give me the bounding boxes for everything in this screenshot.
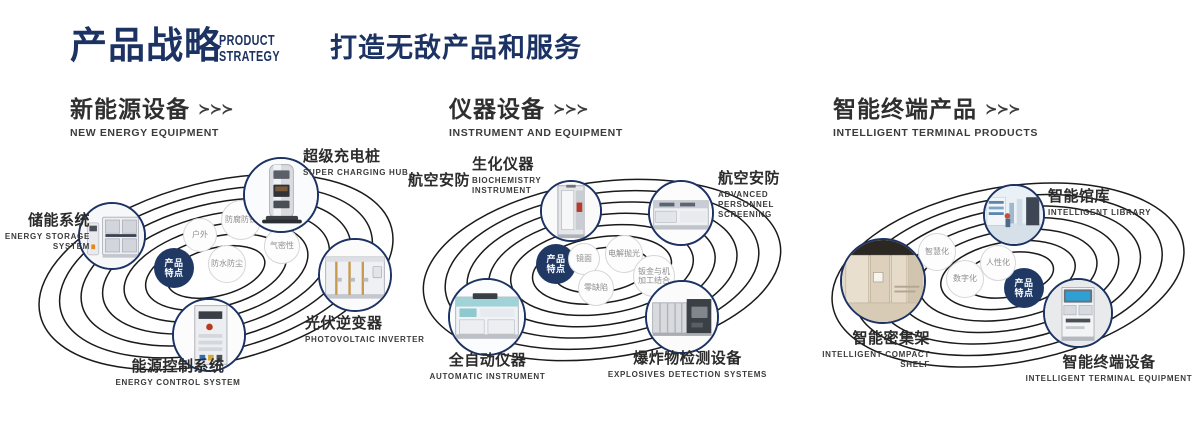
- automatic-instrument-photo: [450, 280, 524, 354]
- section-subtitle-new-energy: NEW ENERGY EQUIPMENT: [70, 127, 233, 139]
- feature-bubble-waterproof: 防水防尘: [208, 245, 246, 283]
- terminal-equipment-photo: [1045, 280, 1111, 346]
- cluster-terminal: 产品特点 智慧化 数字化 人性化: [800, 150, 1200, 400]
- intelligent-library-photo: [985, 186, 1043, 244]
- section-title-terminal: 智能终端产品≻≻≻: [833, 96, 1038, 123]
- section-heading-new-energy: 新能源设备≻≻≻ NEW ENERGY EQUIPMENT: [70, 96, 233, 139]
- section-subtitle-terminal: INTELLIGENT TERMINAL PRODUCTS: [833, 127, 1038, 139]
- product-circle-automatic-instrument[interactable]: [448, 278, 526, 356]
- feature-bubble-airtight: 气密性: [264, 228, 300, 264]
- feature-bubble-digital: 数字化: [946, 260, 984, 298]
- label-energy-control-zh: 能源控制系统: [78, 358, 278, 376]
- label-explosives-detection-zh: 爆炸物检测设备: [600, 350, 775, 368]
- product-circle-explosives-detection[interactable]: [645, 280, 719, 354]
- label-personnel-screening-en: ADVANCED PERSONNEL SCREENING: [718, 190, 810, 220]
- cluster-new-energy: 产品特点 户外 防腐防锈 防水防尘 气密性: [20, 150, 420, 400]
- core-bubble-new-energy: 产品特点: [154, 248, 194, 288]
- label-biochemistry-instrument-zh: 生化仪器: [472, 156, 554, 174]
- feature-bubble-zerodefect: 零缺陷: [578, 270, 614, 306]
- label-explosives-detection: 爆炸物检测设备 EXPLOSIVES DETECTION SYSTEMS: [600, 350, 775, 380]
- compact-shelf-photo: [842, 240, 924, 322]
- product-circle-terminal-equipment[interactable]: [1043, 278, 1113, 348]
- label-biochemistry-instrument: 生化仪器 BIOCHEMISTRY INSTRUMENT: [472, 156, 554, 196]
- product-circle-personnel-screening[interactable]: [648, 180, 714, 246]
- label-automatic-instrument: 全自动仪器 AUTOMATIC INSTRUMENT: [410, 352, 565, 382]
- label-energy-storage-zh: 储能系统: [0, 212, 90, 230]
- label-aviation-security: 航空安防: [408, 172, 470, 190]
- label-charging-hub-en: SUPER CHARGING HUB: [303, 168, 409, 178]
- chevrons-icon: ≻≻≻: [985, 97, 1020, 123]
- label-compact-shelf-zh: 智能密集架: [790, 330, 930, 348]
- label-compact-shelf-en: INTELLIGENT COMPACT SHELF: [790, 350, 930, 370]
- chevrons-icon: ≻≻≻: [198, 97, 233, 123]
- page-title: 产品战略: [70, 26, 222, 66]
- label-energy-control-en: ENERGY CONTROL SYSTEM: [78, 378, 278, 388]
- label-personnel-screening: 航空安防 ADVANCED PERSONNEL SCREENING: [718, 170, 810, 220]
- page-subtitle: 打造无敌产品和服务: [330, 33, 582, 63]
- label-automatic-instrument-zh: 全自动仪器: [410, 352, 565, 370]
- product-circle-pv-inverter[interactable]: [318, 238, 392, 312]
- label-intelligent-library: 智能馆库 INTELLIGENT LIBRARY: [1048, 188, 1151, 218]
- label-energy-storage: 储能系统 ENERGY STORAGE SYSTEM: [0, 212, 90, 252]
- label-biochemistry-instrument-en: BIOCHEMISTRY INSTRUMENT: [472, 176, 554, 196]
- label-intelligent-library-zh: 智能馆库: [1048, 188, 1151, 206]
- product-circle-intelligent-library[interactable]: [983, 184, 1045, 246]
- label-personnel-screening-zh: 航空安防: [718, 170, 810, 188]
- label-automatic-instrument-en: AUTOMATIC INSTRUMENT: [410, 372, 565, 382]
- feature-bubble-outdoor: 户外: [183, 218, 217, 252]
- page-title-english: PRODUCT STRATEGY: [219, 33, 280, 65]
- explosives-detection-photo: [647, 282, 717, 352]
- label-terminal-equipment-en: INTELLIGENT TERMINAL EQUIPMENT: [1018, 374, 1200, 384]
- label-intelligent-library-en: INTELLIGENT LIBRARY: [1048, 208, 1151, 218]
- personnel-screening-photo: [650, 182, 712, 244]
- cluster-instrument: 产品特点 镜面 电解抛光 钣金与机加工结合 零缺陷: [400, 150, 800, 400]
- page-title-english-line2: STRATEGY: [219, 49, 280, 65]
- label-charging-hub: 超级充电桩 SUPER CHARGING HUB: [303, 148, 409, 178]
- product-strategy-infographic: 产品战略 PRODUCT STRATEGY 打造无敌产品和服务 新能源设备≻≻≻…: [0, 0, 1200, 422]
- product-circle-compact-shelf[interactable]: [840, 238, 926, 324]
- label-charging-hub-zh: 超级充电桩: [303, 148, 409, 166]
- section-heading-instrument: 仪器设备≻≻≻ INSTRUMENT AND EQUIPMENT: [449, 96, 623, 139]
- label-compact-shelf: 智能密集架 INTELLIGENT COMPACT SHELF: [790, 330, 930, 370]
- core-bubble-text: 产品特点: [546, 254, 565, 274]
- section-subtitle-instrument: INSTRUMENT AND EQUIPMENT: [449, 127, 623, 139]
- feature-bubble-humanized: 人性化: [980, 245, 1016, 281]
- page-title-english-line1: PRODUCT: [219, 33, 280, 49]
- label-energy-control: 能源控制系统 ENERGY CONTROL SYSTEM: [78, 358, 278, 388]
- page-header: 产品战略 PRODUCT STRATEGY 打造无敌产品和服务: [0, 0, 1200, 88]
- core-bubble-text: 产品特点: [164, 258, 183, 278]
- section-title-new-energy: 新能源设备≻≻≻: [70, 96, 233, 123]
- label-energy-storage-en: ENERGY STORAGE SYSTEM: [0, 232, 90, 252]
- section-heading-terminal: 智能终端产品≻≻≻ INTELLIGENT TERMINAL PRODUCTS: [833, 96, 1038, 139]
- section-title-instrument: 仪器设备≻≻≻: [449, 96, 623, 123]
- label-terminal-equipment-zh: 智能终端设备: [1018, 354, 1200, 372]
- pv-inverter-photo: [320, 240, 390, 310]
- label-aviation-security-zh: 航空安防: [408, 172, 470, 190]
- chevrons-icon: ≻≻≻: [553, 97, 588, 123]
- label-explosives-detection-en: EXPLOSIVES DETECTION SYSTEMS: [600, 370, 775, 380]
- label-terminal-equipment: 智能终端设备 INTELLIGENT TERMINAL EQUIPMENT: [1018, 354, 1200, 384]
- core-bubble-text: 产品特点: [1014, 278, 1033, 298]
